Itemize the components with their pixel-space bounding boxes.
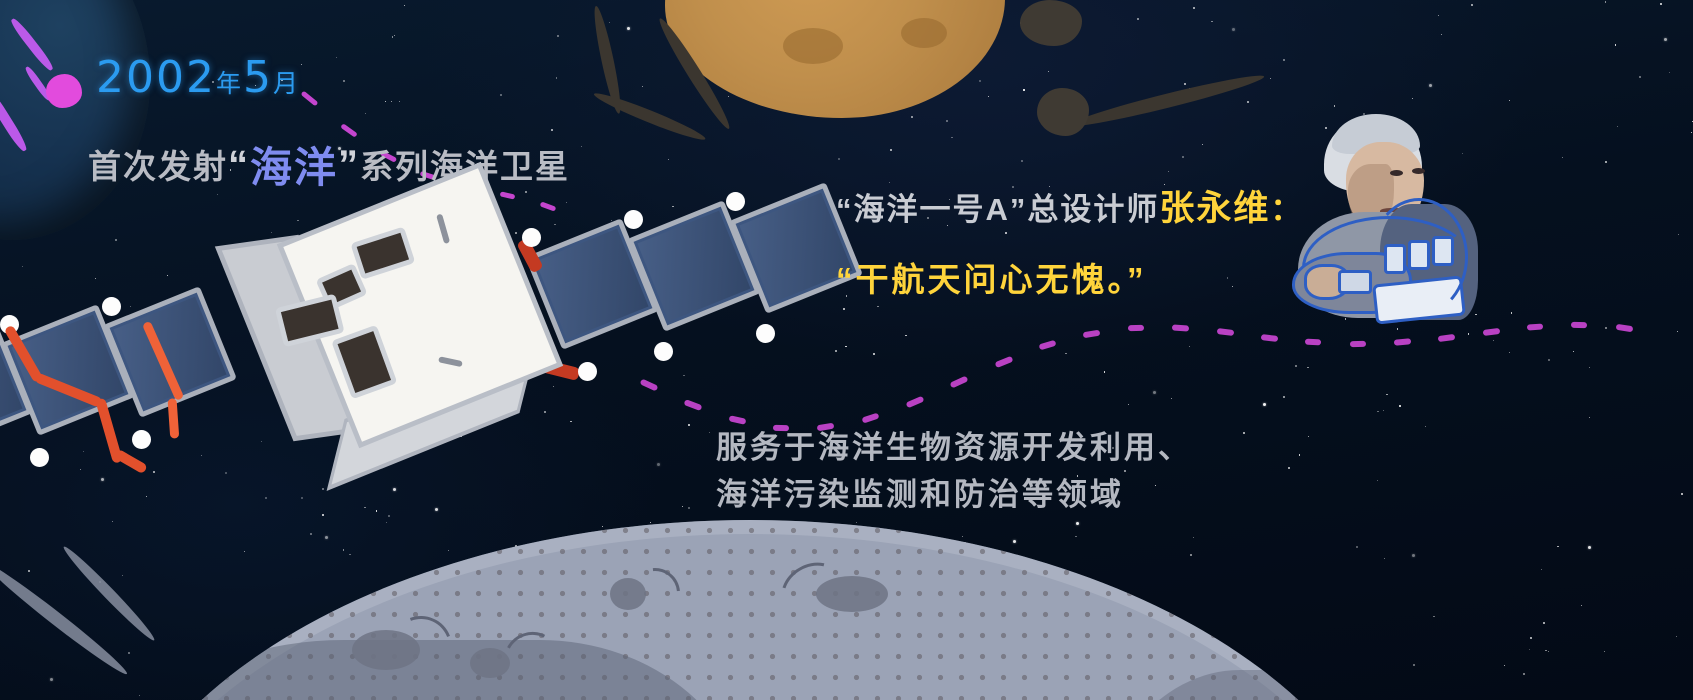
- illustration-canvas: 2002年5月 首次发射“海洋”系列海洋卫星 “海洋一号A”总设计师张永维： “…: [0, 0, 1693, 700]
- instrument-sensor-a: [350, 226, 415, 279]
- portrait-eye-left: [1390, 170, 1403, 176]
- panel-joint: [624, 210, 643, 229]
- quote-attribution-prefix: “海洋一号A”总设计师: [836, 192, 1159, 227]
- pink-asteroid: [46, 74, 82, 108]
- asteroid: [1020, 0, 1082, 46]
- date-year: 2002: [96, 52, 216, 103]
- moon-planet: [90, 520, 1410, 700]
- asteroid-2: [1037, 88, 1089, 136]
- panel-joint: [726, 192, 745, 211]
- headline: 首次发射“海洋”系列海洋卫星: [88, 134, 570, 195]
- panel-joint: [578, 362, 597, 381]
- date-year-suffix: 年: [216, 69, 243, 98]
- antenna-rod: [436, 214, 450, 244]
- date-month: 5: [243, 52, 273, 103]
- instrument-camera: [331, 325, 397, 400]
- headline-prefix: 首次发射: [88, 148, 228, 185]
- portrait-object: [1338, 270, 1372, 294]
- description-line-2: 海洋污染监测和防治等领域: [716, 471, 1192, 518]
- power-cable-2: [168, 398, 180, 439]
- panel-joint: [522, 228, 541, 247]
- date-label: 2002年5月: [96, 52, 300, 103]
- panel-joint: [102, 297, 121, 316]
- portrait-eye-right: [1412, 168, 1425, 174]
- quote-text: “干航天问心无愧。”: [836, 253, 1303, 301]
- description-block: 服务于海洋生物资源开发利用、 海洋污染监测和防治等领域: [716, 424, 1192, 518]
- description-line-1: 服务于海洋生物资源开发利用、: [716, 424, 1192, 471]
- panel-joint: [756, 324, 775, 343]
- date-month-suffix: 月: [273, 69, 300, 98]
- quote-attribution: “海洋一号A”总设计师张永维：: [836, 180, 1303, 231]
- antenna-rod-2: [438, 356, 463, 367]
- quote-block: “海洋一号A”总设计师张永维： “干航天问心无愧。”: [836, 180, 1303, 301]
- headline-quote-close: ”: [338, 143, 360, 187]
- portrait-jacket-outline: [1370, 198, 1468, 316]
- headline-quote-open: “: [228, 143, 250, 187]
- headline-highlight: 海洋: [250, 144, 338, 191]
- panel-joint: [132, 430, 151, 449]
- panel-joint: [654, 342, 673, 361]
- quote-person-name: 张永维: [1159, 189, 1270, 228]
- panel-joint: [30, 448, 49, 467]
- portrait-zhang-yongwei: [1262, 112, 1477, 317]
